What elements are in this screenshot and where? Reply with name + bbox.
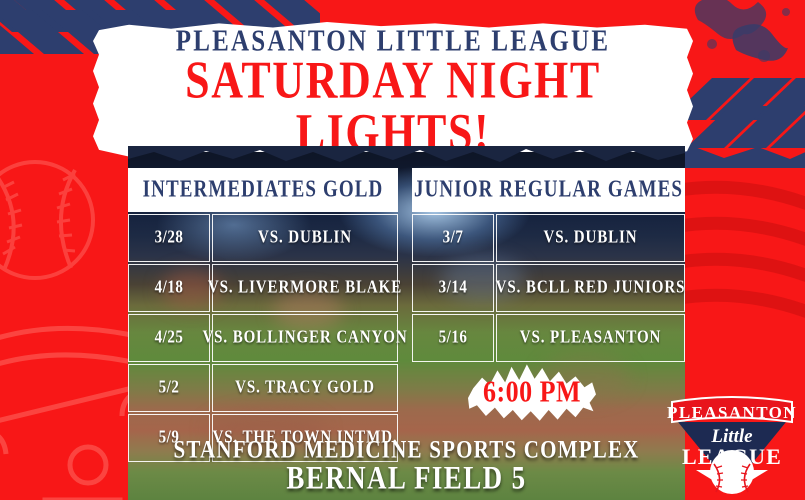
game-opponent: VS. TRACY GOLD xyxy=(212,364,398,412)
game-opponent: VS. DUBLIN xyxy=(212,214,398,262)
game-opponent: VS. BOLLINGER CANYON xyxy=(212,314,398,362)
game-date: 3/28 xyxy=(128,214,210,262)
game-date: 3/7 xyxy=(412,214,494,262)
poster-root: PLEASANTON LITTLE LEAGUE SATURDAY NIGHT … xyxy=(0,0,805,500)
table-row[interactable]: 5/16 VS. PLEASANTON xyxy=(412,314,685,362)
baseball-ball-lineart xyxy=(0,140,140,300)
header-banner: PLEASANTON LITTLE LEAGUE SATURDAY NIGHT … xyxy=(93,22,693,158)
table-header-label: JUNIOR REGULAR GAMES xyxy=(414,176,683,204)
table-header-juniors: JUNIOR REGULAR GAMES xyxy=(412,168,685,212)
game-opponent: VS. PLEASANTON xyxy=(496,314,685,362)
schedule-tables: INTERMEDIATES GOLD 3/28 VS. DUBLIN 4/18 … xyxy=(128,168,685,462)
table-row[interactable]: 3/28 VS. DUBLIN xyxy=(128,214,398,262)
game-time-splash: 6:00 PM xyxy=(468,362,596,422)
grunge-splotch-top-right xyxy=(690,0,805,84)
game-time: 6:00 PM xyxy=(483,374,581,409)
chevron-band-right xyxy=(670,78,805,168)
game-opponent: VS. DUBLIN xyxy=(496,214,685,262)
page-title: SATURDAY NIGHT LIGHTS! xyxy=(93,54,693,160)
game-date: 3/14 xyxy=(412,264,494,312)
game-opponent: VS. BCLL RED JUNIORS xyxy=(496,264,685,312)
game-date: 5/2 xyxy=(128,364,210,412)
venue-field: BERNAL FIELD 5 xyxy=(128,461,685,497)
game-date: 4/18 xyxy=(128,264,210,312)
table-row[interactable]: 3/14 VS. BCLL RED JUNIORS xyxy=(412,264,685,312)
venue-block: STANFORD MEDICINE SPORTS COMPLEX BERNAL … xyxy=(128,438,685,494)
schedule-table-intermediates: INTERMEDIATES GOLD 3/28 VS. DUBLIN 4/18 … xyxy=(128,168,398,462)
game-date: 5/16 xyxy=(412,314,494,362)
table-row[interactable]: 5/2 VS. TRACY GOLD xyxy=(128,364,398,412)
logo-banner-text: PLEASANTON xyxy=(667,403,797,422)
game-date: 4/25 xyxy=(128,314,210,362)
game-opponent: VS. LIVERMORE BLAKE xyxy=(212,264,398,312)
table-row[interactable]: 3/7 VS. DUBLIN xyxy=(412,214,685,262)
table-header-label: INTERMEDIATES GOLD xyxy=(143,176,384,204)
table-row[interactable]: 4/25 VS. BOLLINGER CANYON xyxy=(128,314,398,362)
pleasanton-little-league-logo[interactable]: PLEASANTON Little LEAGUE xyxy=(666,392,798,497)
venue-name: STANFORD MEDICINE SPORTS COMPLEX xyxy=(128,436,685,462)
table-row[interactable]: 4/18 VS. LIVERMORE BLAKE xyxy=(128,264,398,312)
table-header-intermediates: INTERMEDIATES GOLD xyxy=(128,168,398,212)
